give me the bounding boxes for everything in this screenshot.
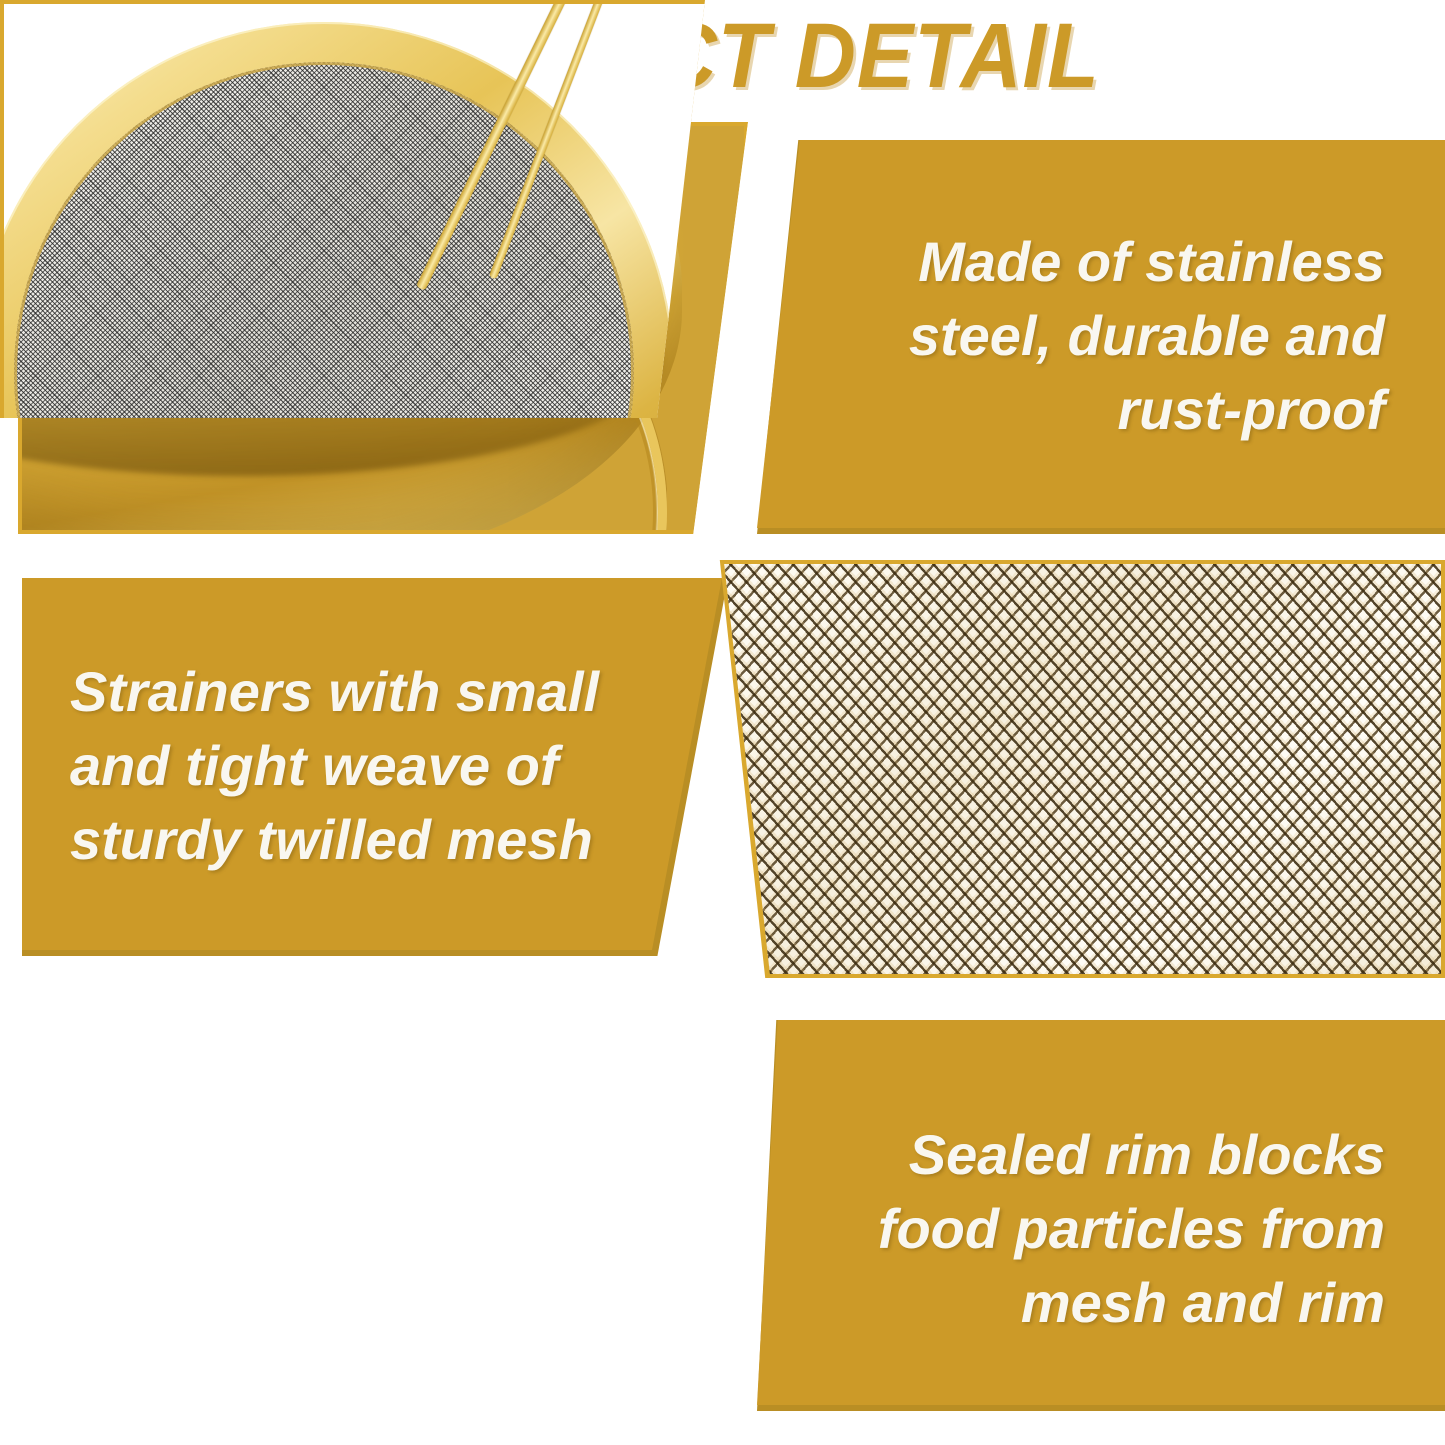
feature-line: rust-proof (800, 373, 1385, 447)
feature-line: Made of stainless (800, 225, 1385, 299)
product-detail-infographic: PRODUCT DETAIL Made of stainless steel, … (0, 0, 1445, 1445)
wire-mesh-texture (692, 564, 1441, 974)
feature-text-material: Made of stainless steel, durable and rus… (800, 225, 1385, 447)
feature-line: mesh and rim (800, 1266, 1385, 1340)
sieve-photo (4, 4, 705, 418)
feature-image-sealed-rim (0, 0, 705, 418)
feature-text-mesh-weave: Strainers with small and tight weave of … (70, 655, 670, 877)
feature-line: food particles from (800, 1192, 1385, 1266)
feature-text-sealed-rim: Sealed rim blocks food particles from me… (800, 1118, 1385, 1340)
feature-line: and tight weave of (70, 729, 670, 803)
feature-image-mesh-weave (688, 560, 1445, 978)
feature-line: Sealed rim blocks (800, 1118, 1385, 1192)
feature-line: sturdy twilled mesh (70, 803, 670, 877)
feature-line: Strainers with small (70, 655, 670, 729)
feature-line: steel, durable and (800, 299, 1385, 373)
